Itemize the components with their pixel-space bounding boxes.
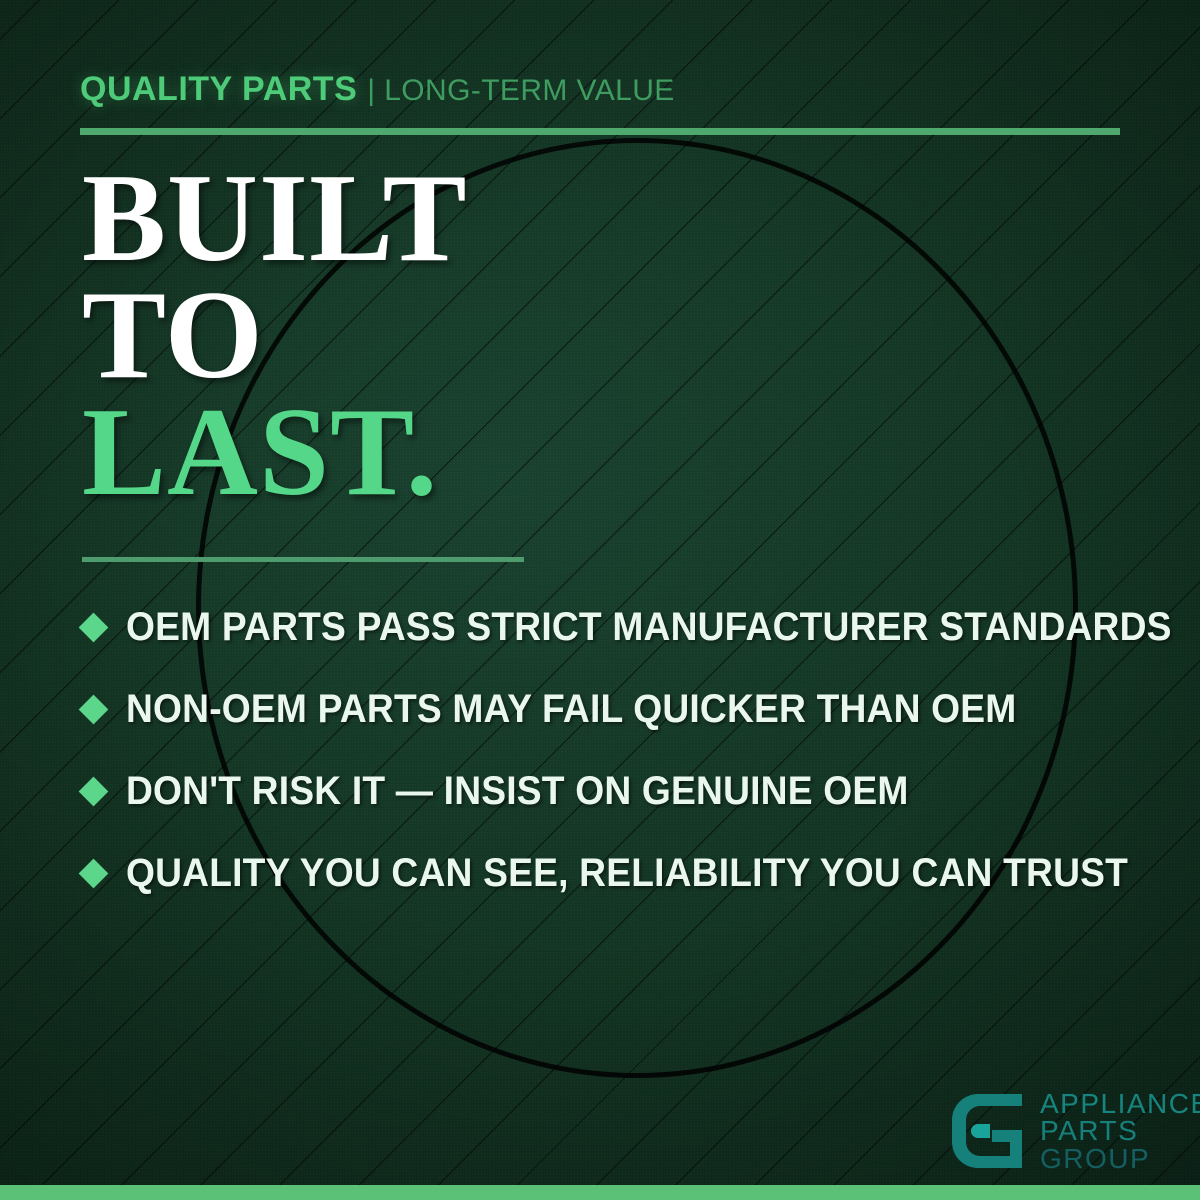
list-item: QUALITY YOU CAN SEE, RELIABILITY YOU CAN… — [80, 832, 1150, 914]
brand-word-1: APPLIANCE — [1040, 1090, 1200, 1117]
list-item-label: DON'T RISK IT — INSIST ON GENUINE OEM — [126, 769, 909, 814]
header-divider-rule — [80, 128, 1120, 135]
list-item: DON'T RISK IT — INSIST ON GENUINE OEM — [80, 750, 1150, 832]
headline-line-1: BUILT — [82, 160, 468, 277]
brand-logo: APPLIANCE PARTS GROUP — [948, 1090, 1200, 1172]
diamond-bullet-icon — [79, 612, 109, 642]
headline-line-3: LAST. — [82, 394, 468, 511]
page-title: BUILT TO LAST. — [82, 160, 468, 512]
list-item-label: QUALITY YOU CAN SEE, RELIABILITY YOU CAN… — [126, 851, 1128, 896]
list-item-label: OEM PARTS PASS STRICT MANUFACTURER STAND… — [126, 605, 1172, 650]
brand-word-2: PARTS — [1040, 1117, 1200, 1144]
g-monogram-icon — [948, 1090, 1026, 1172]
poster-canvas: QUALITY PARTS| LONG-TERM VALUE BUILT TO … — [0, 0, 1200, 1200]
poster-content: QUALITY PARTS| LONG-TERM VALUE BUILT TO … — [0, 0, 1200, 1200]
benefits-list: OEM PARTS PASS STRICT MANUFACTURER STAND… — [80, 586, 1150, 914]
brand-word-3: GROUP — [1040, 1145, 1200, 1172]
eyebrow-subtitle: | LONG-TERM VALUE — [367, 74, 674, 107]
brand-wordmark: APPLIANCE PARTS GROUP — [1040, 1090, 1200, 1172]
diamond-bullet-icon — [79, 694, 109, 724]
diamond-bullet-icon — [79, 858, 109, 888]
diamond-bullet-icon — [79, 776, 109, 806]
list-item: OEM PARTS PASS STRICT MANUFACTURER STAND… — [80, 586, 1150, 668]
list-item: NON-OEM PARTS MAY FAIL QUICKER THAN OEM — [80, 668, 1150, 750]
eyebrow-kicker: QUALITY PARTS — [80, 70, 357, 108]
eyebrow-header: QUALITY PARTS| LONG-TERM VALUE — [80, 72, 675, 106]
bottom-accent-bar — [0, 1185, 1200, 1200]
headline-divider-rule — [82, 557, 524, 562]
headline-line-2: TO — [82, 277, 468, 394]
list-item-label: NON-OEM PARTS MAY FAIL QUICKER THAN OEM — [126, 687, 1016, 732]
